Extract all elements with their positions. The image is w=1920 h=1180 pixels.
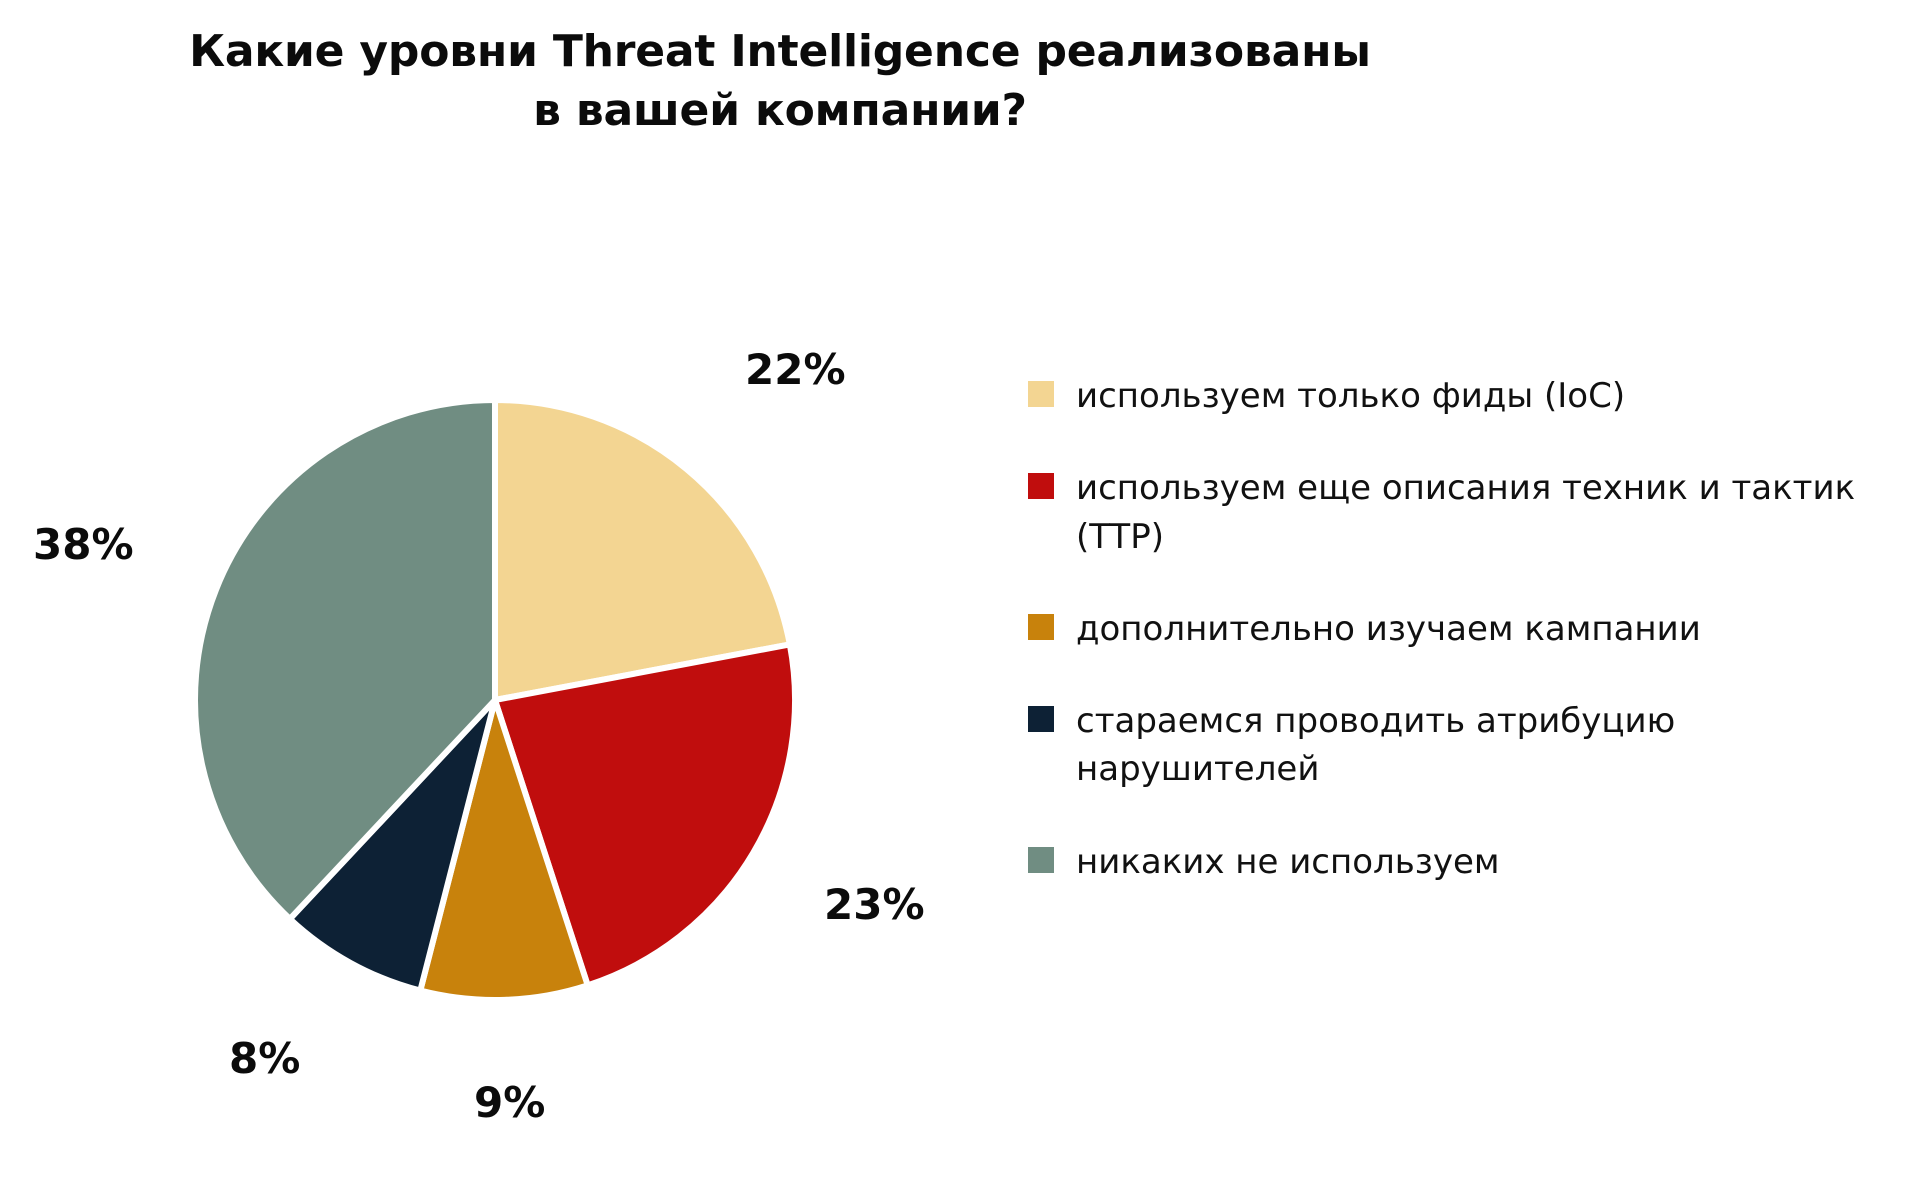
- legend-swatch-ttp: [1028, 473, 1054, 499]
- page-title-line-1: Какие уровни Threat Intelligence реализо…: [0, 22, 1560, 81]
- legend-label-campaigns: дополнительно изучаем кампании: [1076, 605, 1701, 653]
- legend-label-attribution: стараемся проводить атрибуцию нарушителе…: [1076, 697, 1876, 794]
- legend-item-attribution[interactable]: стараемся проводить атрибуцию нарушителе…: [1028, 697, 1908, 794]
- legend-label-none: никаких не используем: [1076, 838, 1500, 886]
- pie-svg: [190, 395, 800, 1005]
- data-label-attribution: 8%: [229, 1038, 300, 1080]
- legend-item-none[interactable]: никаких не используем: [1028, 838, 1908, 886]
- legend-swatch-attribution: [1028, 706, 1054, 732]
- legend-label-ttp: используем еще описания техник и тактик …: [1076, 464, 1876, 561]
- legend-swatch-none: [1028, 847, 1054, 873]
- data-label-none: 38%: [33, 524, 134, 566]
- chart-legend: используем только фиды (IoC) используем …: [1028, 372, 1908, 886]
- legend-label-feeds: используем только фиды (IoC): [1076, 372, 1625, 420]
- data-label-campaigns: 9%: [474, 1082, 545, 1124]
- page-title-line-2: в вашей компании?: [0, 81, 1560, 140]
- legend-swatch-feeds: [1028, 381, 1054, 407]
- data-label-feeds: 22%: [745, 349, 846, 391]
- pie-chart-figure: Какие уровни Threat Intelligence реализо…: [0, 0, 1920, 1180]
- legend-item-ttp[interactable]: используем еще описания техник и тактик …: [1028, 464, 1908, 561]
- page-title: Какие уровни Threat Intelligence реализо…: [0, 22, 1560, 141]
- legend-swatch-campaigns: [1028, 614, 1054, 640]
- data-label-ttp: 23%: [824, 884, 925, 926]
- legend-item-campaigns[interactable]: дополнительно изучаем кампании: [1028, 605, 1908, 653]
- legend-item-feeds[interactable]: используем только фиды (IoC): [1028, 372, 1908, 420]
- pie-graphic: [190, 395, 800, 1005]
